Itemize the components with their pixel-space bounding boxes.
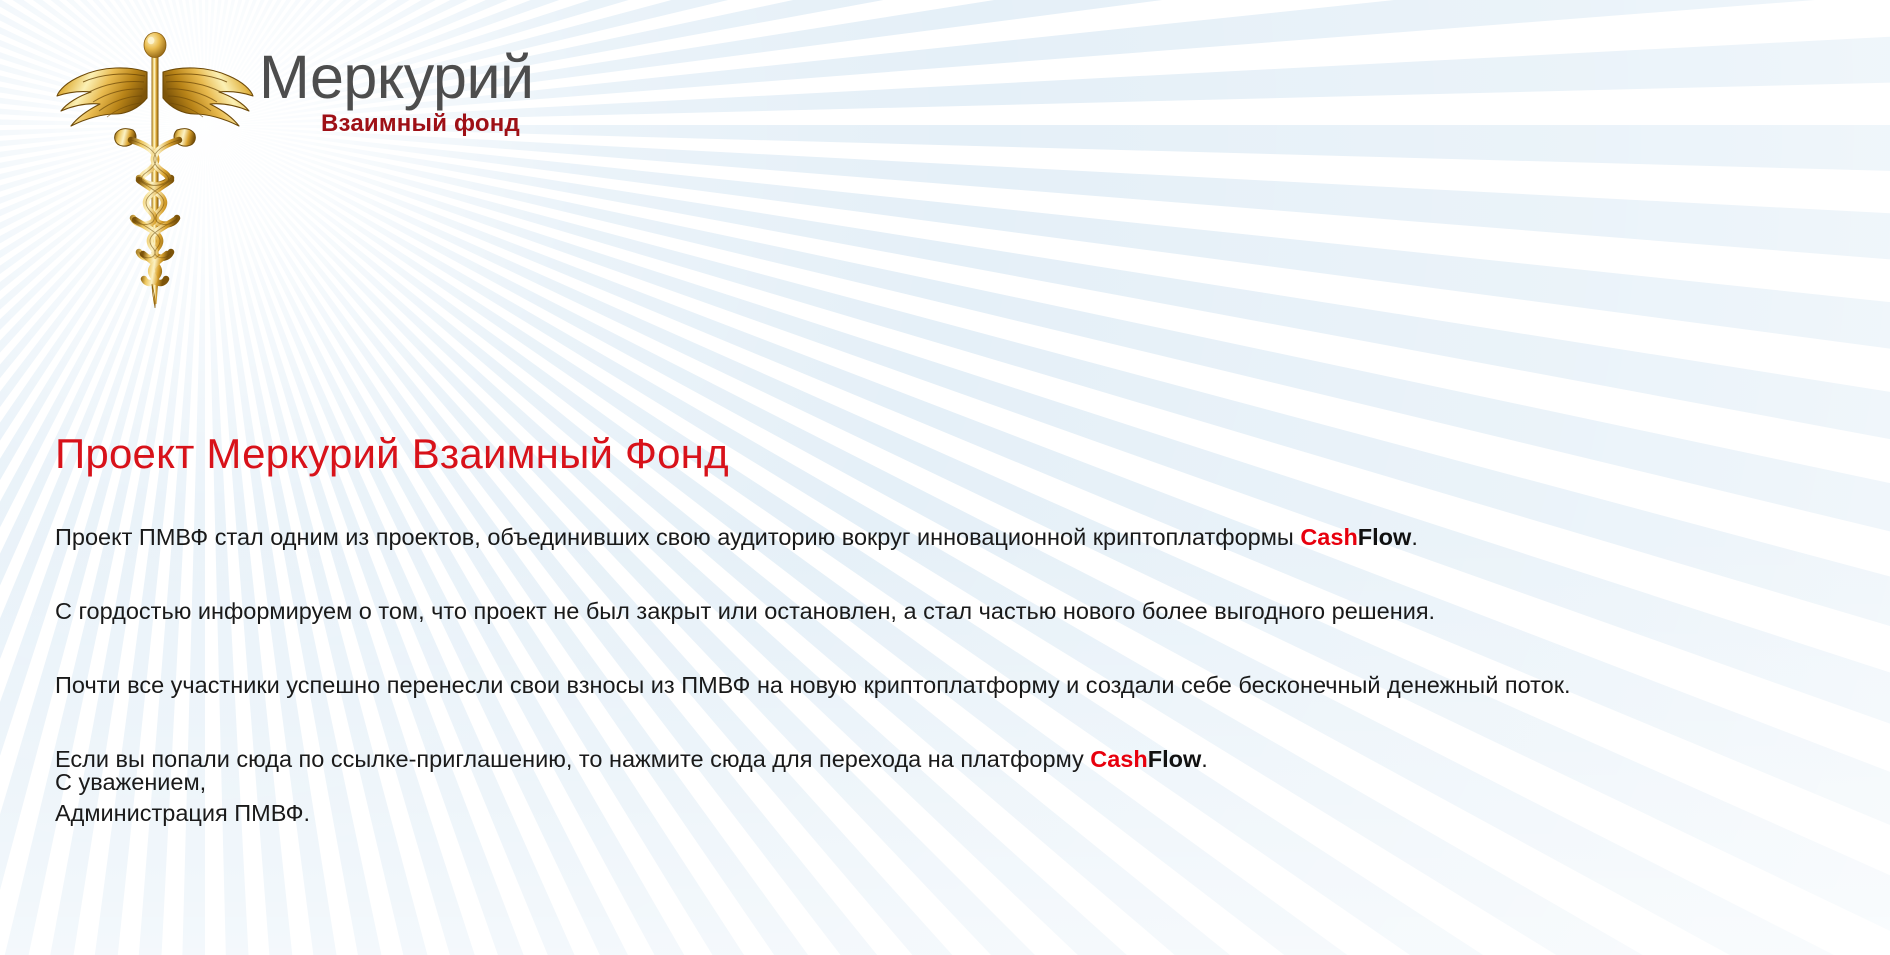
logo-text: Меркурий Взаимный фонд bbox=[259, 46, 534, 138]
paragraph-4-text-after: . bbox=[1201, 746, 1208, 772]
paragraph-4-text-before: Если вы попали сюда по ссылке-приглашени… bbox=[55, 746, 1090, 772]
paragraph-3: Почти все участники успешно перенесли св… bbox=[55, 670, 1855, 701]
cashflow-cash: Cash bbox=[1090, 746, 1147, 772]
paragraph-1-text-before: Проект ПМВФ стал одним из проектов, объе… bbox=[55, 524, 1300, 550]
site-header: Меркурий Взаимный фонд bbox=[0, 0, 1890, 370]
signature-block: С уважением, Администрация ПМВФ. bbox=[55, 767, 1855, 830]
logo[interactable]: Меркурий Взаимный фонд bbox=[55, 22, 534, 312]
caduceus-icon bbox=[55, 22, 255, 312]
paragraph-1: Проект ПМВФ стал одним из проектов, объе… bbox=[55, 522, 1855, 553]
logo-title: Меркурий bbox=[259, 46, 534, 108]
paragraph-1-text-after: . bbox=[1411, 524, 1418, 550]
cashflow-flow: Flow bbox=[1148, 746, 1202, 772]
cashflow-flow: Flow bbox=[1358, 524, 1412, 550]
logo-subtitle: Взаимный фонд bbox=[321, 110, 534, 138]
cashflow-cash: Cash bbox=[1300, 524, 1357, 550]
cashflow-brand-link[interactable]: CashFlow bbox=[1090, 746, 1201, 772]
signature-line-2: Администрация ПМВФ. bbox=[55, 798, 1855, 829]
page-title: Проект Меркурий Взаимный Фонд bbox=[55, 430, 1855, 478]
main-content: Проект Меркурий Взаимный Фонд Проект ПМВ… bbox=[55, 430, 1855, 830]
cashflow-brand: CashFlow bbox=[1300, 524, 1411, 550]
paragraph-2: С гордостью информируем о том, что проек… bbox=[55, 596, 1855, 627]
page-root: Меркурий Взаимный фонд Проект Меркурий В… bbox=[0, 0, 1890, 955]
